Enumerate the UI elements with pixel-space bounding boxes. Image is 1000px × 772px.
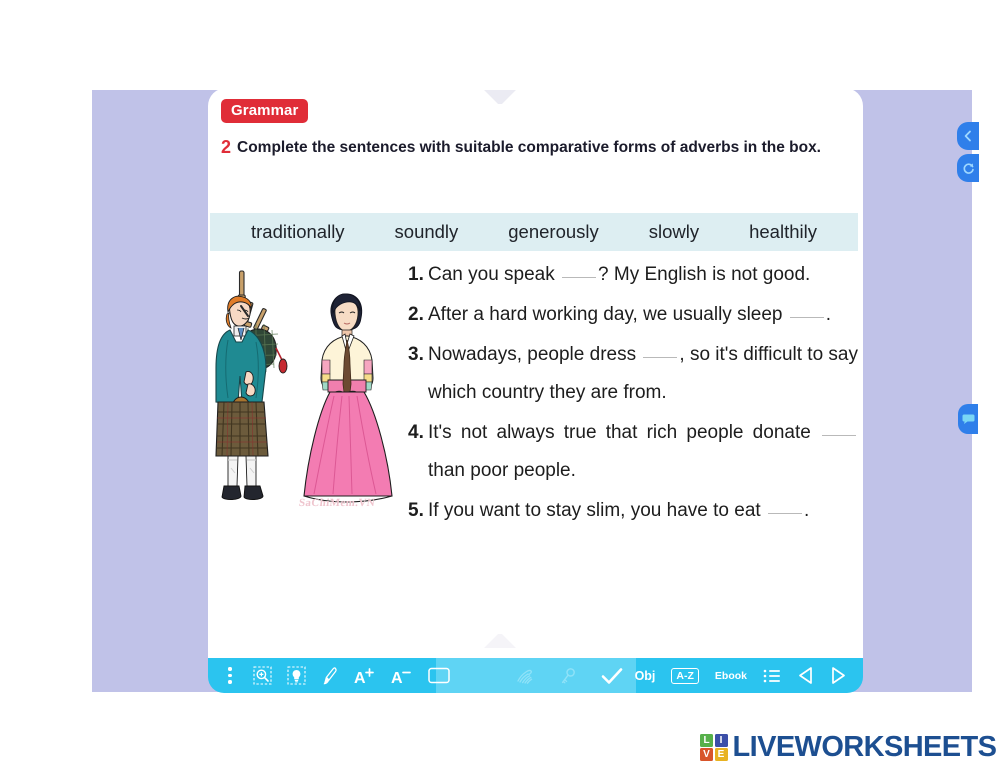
question-number: 2. <box>408 296 428 334</box>
logo-tile-e: E <box>715 748 728 761</box>
zoom-in-icon[interactable] <box>253 663 272 689</box>
prev-page-icon[interactable] <box>797 663 814 689</box>
grammar-badge: Grammar <box>221 99 308 123</box>
question-text-part: After a hard working day, we usually sle… <box>428 304 788 325</box>
word-bank: traditionally soundly generously slowly … <box>210 213 858 251</box>
question-number: 3. <box>408 336 428 374</box>
question-item: 3. Nowadays, people dress , so it's diff… <box>408 336 860 412</box>
liveworksheets-logo: L I V E LIVEWORKSHEETS <box>700 731 996 764</box>
question-text-part: It's not always true that rich people do… <box>428 422 820 443</box>
scribble-icon[interactable] <box>514 663 536 689</box>
question-item: 4. It's not always true that rich people… <box>408 414 860 490</box>
exercise-instruction: 2Complete the sentences with suitable co… <box>221 134 831 161</box>
obj-button-label: Obj <box>635 669 656 683</box>
question-item: 1. Can you speak ? My English is not goo… <box>408 256 860 294</box>
question-text-part: than poor people. <box>428 460 576 481</box>
answer-blank[interactable] <box>768 513 802 514</box>
question-text: It's not always true that rich people do… <box>428 414 858 490</box>
brush-icon[interactable] <box>321 663 339 689</box>
question-text-part: . <box>804 500 809 521</box>
exercise-number: 2 <box>221 137 231 157</box>
answer-blank[interactable] <box>562 277 596 278</box>
right-edge-button-group <box>957 122 979 186</box>
question-number: 1. <box>408 256 428 294</box>
question-item: 5. If you want to stay slim, you have to… <box>408 492 860 530</box>
question-text-part: . <box>826 304 831 325</box>
answer-blank[interactable] <box>790 317 824 318</box>
scroll-up-indicator-icon[interactable] <box>480 88 520 106</box>
word-bank-item[interactable]: generously <box>508 221 599 243</box>
svg-text:A: A <box>391 670 403 686</box>
font-increase-icon[interactable]: A <box>354 663 376 689</box>
fullscreen-icon[interactable] <box>428 663 450 689</box>
ebook-button-label: Ebook <box>715 670 747 682</box>
question-text-part: Can you speak <box>428 264 560 285</box>
question-text-part: Nowadays, people dress <box>428 344 641 365</box>
collapse-panel-button[interactable] <box>957 122 979 150</box>
more-options-icon[interactable] <box>222 663 238 689</box>
exercise-instruction-text: Complete the sentences with suitable com… <box>237 139 821 156</box>
logo-tile-i: I <box>715 734 728 747</box>
key-icon[interactable] <box>558 663 578 689</box>
obj-button[interactable]: Obj <box>635 663 656 689</box>
worksheet-toolbar: A A <box>208 658 863 693</box>
toolbar-right-group: Obj A-Z Ebook <box>635 663 847 689</box>
word-bank-item[interactable]: traditionally <box>251 221 345 243</box>
svg-text:A: A <box>354 670 366 686</box>
logo-tile-v: V <box>700 748 713 761</box>
ebook-button[interactable]: Ebook <box>715 663 747 689</box>
question-text: If you want to stay slim, you have to ea… <box>428 492 858 530</box>
exercise-illustration <box>208 256 406 518</box>
question-item: 2. After a hard working day, we usually … <box>408 296 860 334</box>
highlight-icon[interactable] <box>287 663 306 689</box>
list-icon[interactable] <box>763 663 781 689</box>
chat-button[interactable] <box>958 404 978 434</box>
word-bank-item[interactable]: soundly <box>395 221 459 243</box>
az-button-label: A-Z <box>671 668 699 684</box>
toolbar-left-group: A A <box>222 663 450 689</box>
question-text: Nowadays, people dress , so it's difficu… <box>428 336 858 412</box>
check-icon[interactable] <box>600 663 624 689</box>
font-decrease-icon[interactable]: A <box>391 663 413 689</box>
toolbar-center-group <box>514 663 624 689</box>
word-bank-item[interactable]: healthily <box>749 221 817 243</box>
next-page-icon[interactable] <box>830 663 847 689</box>
word-bank-item[interactable]: slowly <box>649 221 699 243</box>
az-button[interactable]: A-Z <box>671 663 699 689</box>
question-text: After a hard working day, we usually sle… <box>428 296 858 334</box>
question-number: 4. <box>408 414 428 452</box>
liveworksheets-wordmark: LIVEWORKSHEETS <box>733 731 997 764</box>
logo-tile-l: L <box>700 734 713 747</box>
question-text-part: ? My English is not good. <box>598 264 810 285</box>
answer-blank[interactable] <box>822 435 856 436</box>
question-text: Can you speak ? My English is not good. <box>428 256 858 294</box>
answer-blank[interactable] <box>643 357 677 358</box>
refresh-button[interactable] <box>957 154 979 182</box>
live-logo-tiles: L I V E <box>700 734 728 762</box>
scroll-down-indicator-icon[interactable] <box>480 632 520 650</box>
question-text-part: If you want to stay slim, you have to ea… <box>428 500 766 521</box>
image-watermark: SaChiMem.VN <box>281 497 392 509</box>
question-list: 1. Can you speak ? My English is not goo… <box>408 256 860 532</box>
page-root: Grammar 2Complete the sentences with sui… <box>0 0 1000 772</box>
question-number: 5. <box>408 492 428 530</box>
